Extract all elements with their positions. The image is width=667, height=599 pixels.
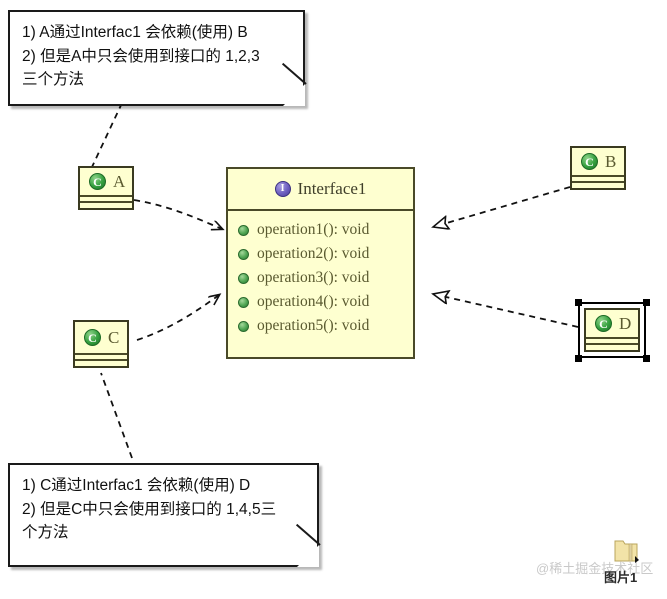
note-fold-corner	[297, 545, 319, 567]
class-icon: C	[581, 153, 598, 170]
class-footer-compartment	[80, 203, 132, 208]
class-label: B	[605, 152, 616, 172]
operation-bullet-icon	[238, 297, 249, 308]
operation-row[interactable]: operation5(): void	[228, 314, 413, 338]
class-label: D	[619, 314, 631, 334]
class-footer-compartment	[75, 361, 127, 366]
edge-d-to-interface	[433, 294, 578, 327]
operation-bullet-icon	[238, 321, 249, 332]
operation-signature: operation4(): void	[257, 293, 369, 311]
note-bottom-line-3: 个方法	[22, 521, 307, 545]
operation-bullet-icon	[238, 249, 249, 260]
operation-signature: operation3(): void	[257, 269, 369, 287]
note-bottom-line-2: 2) 但是C中只会使用到接口的 1,4,5三	[22, 498, 307, 522]
edge-note-bottom-to-c	[101, 373, 132, 458]
class-icon: C	[89, 173, 106, 190]
interface-header: I Interface1	[228, 169, 413, 211]
edge-c-to-interface	[137, 295, 219, 340]
class-box-b[interactable]: C B	[570, 146, 626, 190]
class-name-row: C A	[80, 168, 132, 195]
operation-signature: operation1(): void	[257, 221, 369, 239]
selection-handle-bottom-left[interactable]	[575, 355, 582, 362]
note-top[interactable]: 1) A通过Interfac1 会依赖(使用) B 2) 但是A中只会使用到接口…	[8, 10, 305, 106]
operation-row[interactable]: operation4(): void	[228, 290, 413, 314]
class-box-a[interactable]: C A	[78, 166, 134, 210]
operation-row[interactable]: operation3(): void	[228, 266, 413, 290]
edge-note-top-to-a	[92, 103, 122, 167]
edge-a-to-interface	[134, 200, 222, 229]
operation-signature: operation2(): void	[257, 245, 369, 263]
class-name-row: C C	[75, 322, 127, 353]
class-name-row: C B	[572, 148, 624, 175]
class-compartment-separator	[572, 175, 624, 183]
interface-operations-list: operation1(): void operation2(): void op…	[228, 211, 413, 344]
note-top-line-2: 2) 但是A中只会使用到接口的 1,2,3	[22, 45, 293, 69]
class-label: A	[113, 172, 125, 192]
operation-signature: operation5(): void	[257, 317, 369, 335]
note-fold-corner	[283, 84, 305, 106]
note-top-line-3: 三个方法	[22, 68, 293, 92]
interface-box-interface1[interactable]: I Interface1 operation1(): void operatio…	[226, 167, 415, 359]
operation-row[interactable]: operation1(): void	[228, 218, 413, 242]
class-compartment-separator	[586, 337, 638, 345]
note-bottom-line-1: 1) C通过Interfac1 会依赖(使用) D	[22, 474, 307, 498]
operation-bullet-icon	[238, 225, 249, 236]
class-footer-compartment	[586, 345, 638, 350]
edge-b-to-interface	[433, 187, 570, 227]
folder-icon	[613, 536, 639, 564]
selection-handle-bottom-right[interactable]	[643, 355, 650, 362]
class-box-d[interactable]: C D	[584, 308, 640, 352]
class-compartment-separator	[75, 353, 127, 361]
class-name-row: C D	[586, 310, 638, 337]
uml-diagram-canvas: 1) A通过Interfac1 会依赖(使用) B 2) 但是A中只会使用到接口…	[0, 0, 667, 599]
class-icon: C	[595, 315, 612, 332]
class-box-c[interactable]: C C	[73, 320, 129, 368]
selection-handle-top-left[interactable]	[575, 299, 582, 306]
operation-row[interactable]: operation2(): void	[228, 242, 413, 266]
watermark-caption: 图片1	[604, 567, 637, 586]
note-top-line-1: 1) A通过Interfac1 会依赖(使用) B	[22, 21, 293, 45]
operation-bullet-icon	[238, 273, 249, 284]
interface-name: Interface1	[298, 179, 367, 199]
interface-icon: I	[275, 181, 291, 197]
class-compartment-separator	[80, 195, 132, 203]
note-bottom[interactable]: 1) C通过Interfac1 会依赖(使用) D 2) 但是C中只会使用到接口…	[8, 463, 319, 567]
class-footer-compartment	[572, 183, 624, 188]
class-icon: C	[84, 329, 101, 346]
class-label: C	[108, 328, 119, 348]
selection-handle-top-right[interactable]	[643, 299, 650, 306]
